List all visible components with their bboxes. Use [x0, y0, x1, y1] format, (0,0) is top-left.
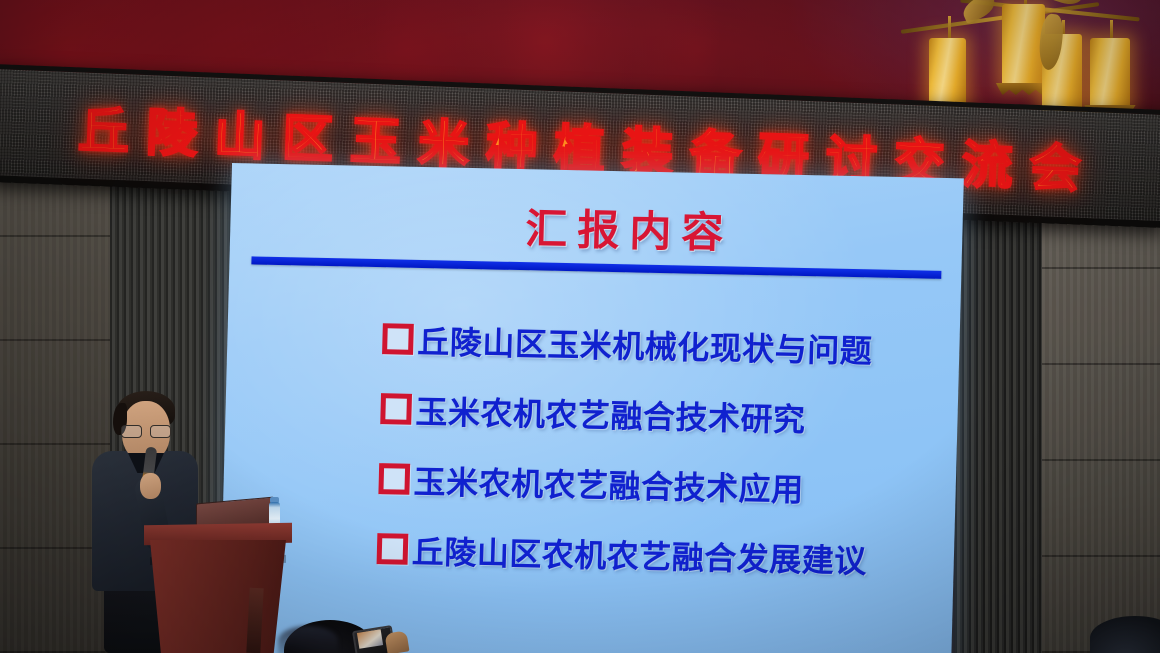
list-item-label: 丘陵山区玉米机械化现状与问题 [417, 316, 873, 372]
list-item-label: 玉米农机农艺融合技术应用 [413, 456, 804, 510]
square-bullet-icon [377, 533, 409, 565]
list-item: 丘陵山区农机农艺融合发展建议 [376, 516, 929, 593]
lamp-stem [948, 16, 951, 38]
list-item: 丘陵山区玉米机械化现状与问题 [382, 306, 935, 383]
audience-member-hand [384, 630, 409, 653]
wall-slat-panel-right [955, 150, 1047, 653]
presenter-hand-holding-mic [140, 473, 161, 499]
lantern-2-icon [1002, 4, 1045, 86]
list-item-label: 丘陵山区农机农艺融合发展建议 [411, 526, 867, 582]
projection-screen: 汇报内容 丘陵山区玉米机械化现状与问题 玉米农机农艺融合技术研究 玉米农机农艺融… [219, 163, 964, 653]
square-bullet-icon [380, 393, 412, 425]
list-item-label: 玉米农机农艺融合技术研究 [415, 386, 806, 440]
lamp-stem [1110, 20, 1113, 38]
square-bullet-icon [382, 323, 414, 355]
audience-member-hair [278, 626, 338, 653]
list-item: 玉米农机农艺融合技术应用 [378, 446, 931, 523]
glasses-icon [121, 425, 171, 436]
conference-photo-scene: 丘陵山区玉米种植装备研讨交流会 汇报内容 丘陵山区玉米机械化现状与问题 玉米农机… [0, 0, 1160, 653]
lantern-1-icon [929, 38, 966, 106]
list-item: 玉米农机农艺融合技术研究 [380, 376, 933, 453]
lectern [150, 540, 286, 653]
slide-bullet-list: 丘陵山区玉米机械化现状与问题 玉米农机农艺融合技术研究 玉米农机农艺融合技术应用… [376, 306, 934, 597]
slide-title: 汇报内容 [230, 189, 963, 265]
lantern-4-icon [1090, 38, 1130, 108]
chandelier [900, 0, 1160, 110]
square-bullet-icon [378, 463, 410, 495]
